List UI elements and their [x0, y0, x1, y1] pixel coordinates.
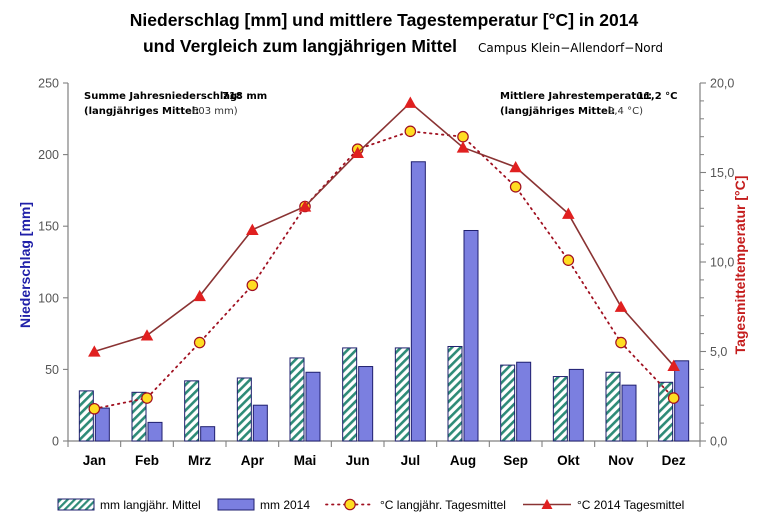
marker-longterm-temp-dez [668, 393, 678, 403]
y-axis-right: 0,05,010,015,020,0 [700, 77, 734, 449]
bar-2014-mai [306, 372, 320, 441]
annot-temp-label: Mittlere Jahrestemperatur: [500, 91, 652, 102]
legend-label-3: °C langjähr. Tagesmittel [380, 498, 506, 512]
legend-item-3[interactable]: °C langjähr. Tagesmittel [326, 498, 506, 512]
bar-longterm-dez [659, 382, 673, 441]
y-tick-label-right: 15,0 [710, 166, 734, 180]
legend-label-2: mm 2014 [260, 498, 310, 512]
marker-longterm-temp-aug [458, 132, 468, 142]
x-tick-label-nov: Nov [608, 453, 634, 468]
marker-2014-temp-jul [405, 97, 416, 107]
y-tick-label-right: 0,0 [710, 435, 727, 449]
x-tick-label-okt: Okt [557, 453, 580, 468]
bar-longterm-okt [553, 377, 567, 441]
y-tick-label-left: 50 [45, 363, 59, 377]
bar-longterm-jun [343, 348, 357, 441]
y-tick-label-right: 20,0 [710, 77, 734, 91]
legend-item-4[interactable]: °C 2014 Tagesmittel [523, 498, 684, 512]
x-tick-label-jul: Jul [401, 453, 421, 468]
bar-2014-sep [517, 362, 531, 441]
y-axis-left: 050100150200250 [38, 77, 68, 449]
bar-2014-okt [569, 369, 583, 441]
y-axis-title-right: Tagesmitteltemperatur [°C] [732, 176, 748, 355]
marker-2014-temp-apr [247, 224, 258, 234]
bar-2014-nov [622, 385, 636, 441]
y-tick-label-left: 250 [38, 77, 59, 91]
x-tick-label-mrz: Mrz [188, 453, 211, 468]
bar-longterm-jan [79, 391, 93, 441]
bar-longterm-nov [606, 372, 620, 441]
legend-item-1[interactable]: mm langjähr. Mittel [58, 498, 201, 512]
legend-item-2[interactable]: mm 2014 [218, 498, 310, 512]
x-axis: JanFebMrzAprMaiJunJulAugSepOktNovDez [68, 441, 700, 468]
x-tick-label-aug: Aug [450, 453, 476, 468]
page-title: Niederschlag [mm] und mittlere Tagestemp… [130, 10, 639, 30]
marker-2014-temp-nov [615, 301, 626, 311]
bar-2014-mrz [201, 427, 215, 441]
annot-temp-mean-label: (langjähriges Mittel: [500, 106, 615, 117]
marker-longterm-temp-okt [563, 255, 573, 265]
annot-precip-mean-value: 603 mm) [192, 106, 238, 117]
bar-longterm-sep [501, 365, 515, 441]
line-series-group [89, 97, 680, 414]
marker-2014-temp-jan [89, 346, 100, 356]
marker-longterm-temp-sep [510, 182, 520, 192]
y-tick-label-left: 150 [38, 220, 59, 234]
climate-chart: Niederschlag [mm] und mittlere Tagestemp… [0, 0, 768, 530]
bar-longterm-aug [448, 346, 462, 441]
bar-2014-aug [464, 230, 478, 441]
y-tick-label-left: 200 [38, 148, 59, 162]
marker-longterm-temp-mrz [194, 337, 204, 347]
marker-2014-temp-sep [510, 162, 521, 172]
annot-precip-mean-label: (langjähriges Mittel: [84, 106, 199, 117]
marker-longterm-temp-feb [142, 393, 152, 403]
x-tick-label-feb: Feb [135, 453, 159, 468]
y-tick-label-left: 0 [52, 435, 59, 449]
bar-2014-apr [253, 405, 267, 441]
chart-legend: mm langjähr. Mittelmm 2014°C langjähr. T… [58, 498, 684, 512]
x-tick-label-jun: Jun [346, 453, 370, 468]
x-tick-label-dez: Dez [662, 453, 686, 468]
y-axis-title-left: Niederschlag [mm] [17, 202, 33, 328]
marker-longterm-temp-jan [89, 404, 99, 414]
x-tick-label-apr: Apr [241, 453, 265, 468]
x-tick-label-jan: Jan [83, 453, 106, 468]
marker-longterm-temp-jul [405, 126, 415, 136]
bar-2014-feb [148, 422, 162, 441]
bar-longterm-jul [395, 348, 409, 441]
legend-label-1: mm langjähr. Mittel [100, 498, 201, 512]
x-tick-label-sep: Sep [503, 453, 528, 468]
page-subtitle: und Vergleich zum langjährigen Mittel [143, 36, 457, 56]
annot-temp-value: 11,2 °C [637, 91, 678, 102]
bar-series-group [79, 162, 688, 441]
bar-longterm-mrz [185, 381, 199, 441]
y-tick-label-right: 10,0 [710, 256, 734, 270]
annot-precip-label: Summe Jahresniederschlag: [84, 91, 241, 102]
bar-longterm-apr [237, 378, 251, 441]
bar-longterm-mai [290, 358, 304, 441]
y-tick-label-right: 5,0 [710, 345, 727, 359]
marker-longterm-temp-apr [247, 280, 257, 290]
annot-precip-value: 718 mm [222, 91, 267, 102]
bar-2014-jun [359, 367, 373, 441]
y-tick-label-left: 100 [38, 291, 59, 305]
annotation-precipitation: Summe Jahresniederschlag: 718 mm (langjä… [84, 91, 267, 117]
annot-temp-mean-value: 9,4 °C) [608, 106, 643, 117]
chart-canvas: Niederschlag [mm] und mittlere Tagestemp… [0, 0, 768, 530]
annotation-temperature: Mittlere Jahrestemperatur: 11,2 °C (lang… [500, 91, 678, 117]
bar-2014-jul [411, 162, 425, 441]
marker-longterm-temp-nov [616, 337, 626, 347]
legend-label-4: °C 2014 Tagesmittel [577, 498, 684, 512]
site-name: Campus Klein−Allendorf−Nord [478, 41, 663, 55]
x-tick-label-mai: Mai [294, 453, 317, 468]
